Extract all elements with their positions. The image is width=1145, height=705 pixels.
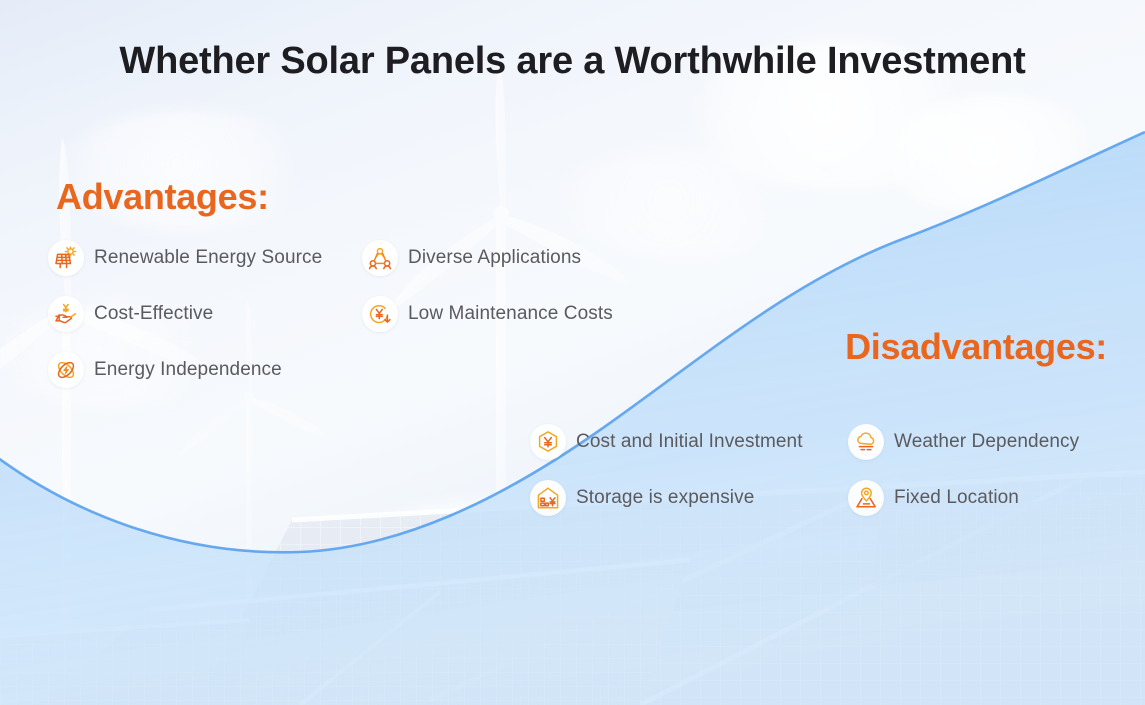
yen-hexagon-icon bbox=[530, 424, 566, 460]
page-title: Whether Solar Panels are a Worthwhile In… bbox=[0, 40, 1145, 83]
atom-bolt-icon bbox=[48, 352, 84, 388]
disadvantage-label: Storage is expensive bbox=[576, 487, 754, 509]
advantage-label: Renewable Energy Source bbox=[94, 247, 322, 269]
disadvantage-item-fixed-location: Fixed Location bbox=[848, 480, 1019, 516]
hand-holding-yen-icon bbox=[48, 296, 84, 332]
advantage-label: Energy Independence bbox=[94, 359, 282, 381]
advantage-label: Cost-Effective bbox=[94, 303, 213, 325]
advantages-heading: Advantages: bbox=[56, 176, 269, 218]
advantage-item-renewable-energy-source: Renewable Energy Source bbox=[48, 240, 322, 276]
disadvantages-heading: Disadvantages: bbox=[845, 326, 1107, 368]
disadvantage-label: Weather Dependency bbox=[894, 431, 1079, 453]
disadvantage-label: Cost and Initial Investment bbox=[576, 431, 803, 453]
advantage-item-low-maintenance-costs: Low Maintenance Costs bbox=[362, 296, 613, 332]
yen-circle-down-arrow-icon bbox=[362, 296, 398, 332]
disadvantage-item-cost-and-initial-investment: Cost and Initial Investment bbox=[530, 424, 803, 460]
disadvantage-item-storage-is-expensive: Storage is expensive bbox=[530, 480, 754, 516]
advantage-item-energy-independence: Energy Independence bbox=[48, 352, 282, 388]
advantage-item-cost-effective: Cost-Effective bbox=[48, 296, 213, 332]
map-pin-location-icon bbox=[848, 480, 884, 516]
warehouse-yen-icon bbox=[530, 480, 566, 516]
advantage-item-diverse-applications: Diverse Applications bbox=[362, 240, 581, 276]
infographic-poster: Whether Solar Panels are a Worthwhile In… bbox=[0, 0, 1145, 705]
advantage-label: Diverse Applications bbox=[408, 247, 581, 269]
disadvantage-label: Fixed Location bbox=[894, 487, 1019, 509]
advantage-label: Low Maintenance Costs bbox=[408, 303, 613, 325]
disadvantage-item-weather-dependency: Weather Dependency bbox=[848, 424, 1079, 460]
solar-panel-sun-icon bbox=[48, 240, 84, 276]
cloud-fog-icon bbox=[848, 424, 884, 460]
people-network-icon bbox=[362, 240, 398, 276]
